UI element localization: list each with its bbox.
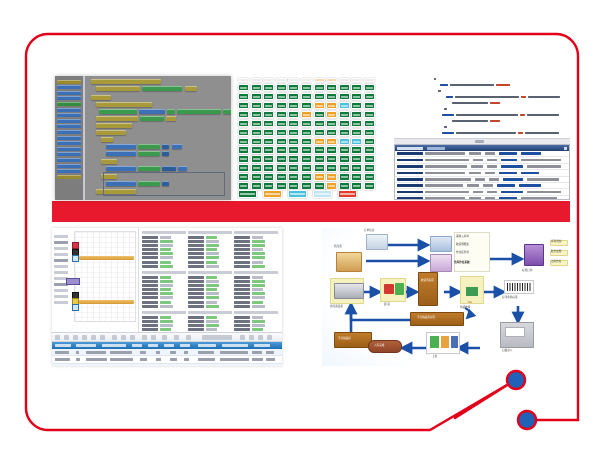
status-cell[interactable] [351,173,362,180]
palette-block[interactable] [57,108,81,112]
panel-code-console[interactable]: Source code editor and log console [394,76,570,200]
status-cell[interactable] [276,129,287,136]
status-cell[interactable] [263,155,274,162]
gantt-bar[interactable] [79,256,134,260]
status-cell[interactable] [339,155,350,162]
parameter-value-cell [160,328,171,331]
table-row[interactable] [52,349,282,356]
status-cell[interactable] [251,155,262,162]
flow-node-supplier-desk[interactable] [336,252,362,272]
parameter-table-row [142,324,186,327]
status-cell[interactable] [314,102,325,109]
parameter-label-cell [142,316,158,319]
log-text-segment [501,191,523,194]
flow-node-system-console-b[interactable] [430,254,452,272]
palette-block[interactable] [57,147,81,151]
status-cell[interactable] [301,164,312,171]
status-cell[interactable] [238,111,249,118]
status-cell[interactable] [364,120,375,127]
status-cell[interactable] [364,182,375,189]
status-cell[interactable] [339,129,350,136]
code-block[interactable] [223,109,231,114]
status-cell[interactable] [238,84,249,91]
status-cell[interactable] [263,164,274,171]
code-block[interactable] [177,109,221,114]
code-block[interactable] [178,166,187,171]
block-canvas[interactable] [87,76,231,200]
status-cell[interactable] [288,146,299,153]
parameter-value-cell [252,276,263,279]
parameter-label-cell [188,305,204,308]
status-cell[interactable] [301,84,312,91]
code-block[interactable] [167,109,175,114]
status-cell[interactable] [263,93,274,100]
table-cell [170,358,177,361]
gantt-chart[interactable] [52,228,139,332]
table-cell [184,358,189,361]
parameter-table[interactable] [142,271,186,309]
parameter-value-cell [252,265,265,268]
status-grid-row [238,102,389,109]
status-cell[interactable] [276,146,287,153]
status-cell[interactable] [364,164,375,171]
palette-block[interactable] [57,80,81,84]
panel-planning-sheet[interactable]: Production planning sheet [52,228,282,366]
status-cell[interactable] [251,93,262,100]
flow-label-system-console: 仓库作业系统 [454,262,470,265]
status-cell[interactable] [251,120,262,127]
code-block[interactable] [139,109,165,114]
parameter-value-cell [160,265,173,268]
decorative-frame [0,0,600,450]
status-cell[interactable] [301,102,312,109]
status-cell[interactable] [238,146,249,153]
gantt-milestone-marker[interactable] [72,255,79,262]
status-cell[interactable] [251,111,262,118]
status-cell[interactable] [314,155,325,162]
code-block[interactable] [96,86,140,91]
status-cell[interactable] [314,138,325,145]
parameter-value-cell [206,320,219,323]
table-row[interactable] [52,364,282,366]
parameter-label-cell [188,252,204,255]
code-block[interactable] [96,123,132,128]
parameter-table-row [142,305,186,308]
status-cell[interactable] [301,155,312,162]
parameter-label-cell [142,324,158,327]
flow-label-printer: 标签打印 [522,270,532,273]
parameter-table-row [234,296,278,299]
palette-block[interactable] [57,113,81,117]
status-cell[interactable] [251,164,262,171]
status-cell[interactable] [288,173,299,180]
status-cell[interactable] [314,164,325,171]
status-cell[interactable] [288,129,299,136]
code-block[interactable] [99,109,137,114]
status-cell[interactable] [301,146,312,153]
parameter-value-cell [206,265,219,268]
flow-node-scan-hand[interactable] [500,322,534,348]
status-cell[interactable] [314,173,325,180]
parameter-table[interactable] [142,231,186,269]
gantt-milestone-marker[interactable] [66,278,80,285]
status-cell[interactable] [326,84,337,91]
code-block[interactable] [166,116,176,121]
status-cell[interactable] [301,93,312,100]
parameter-table-row [142,320,186,323]
table-row[interactable] [52,356,282,363]
status-cell[interactable] [351,93,362,100]
palette-block[interactable] [57,152,81,156]
parameter-table-header [188,311,232,314]
log-text-segment [425,152,465,155]
status-cell[interactable] [301,129,312,136]
flow-node-scanner-top[interactable] [366,234,388,250]
code-block[interactable] [101,137,113,142]
parameter-value-cell [206,324,219,327]
status-cell[interactable] [326,93,337,100]
palette-block[interactable] [57,136,81,140]
status-cell[interactable] [301,120,312,127]
parameter-table-row [142,236,186,239]
parameter-tables[interactable] [140,228,282,332]
flow-node-shelving[interactable] [426,332,460,354]
log-text-segment [487,165,497,168]
status-cell[interactable] [263,120,274,127]
status-cell[interactable] [288,164,299,171]
panel-status-grid[interactable]: Device status matrix [236,76,391,200]
status-cell[interactable] [351,111,362,118]
palette-block[interactable] [57,130,81,134]
parameter-table-row [188,252,232,255]
code-block[interactable] [91,95,111,100]
status-cell[interactable] [339,173,350,180]
parameter-table-row [142,252,186,255]
code-block[interactable] [96,116,138,121]
status-cell[interactable] [351,164,362,171]
parameter-table-row [188,316,232,319]
code-editor[interactable] [394,76,570,138]
palette-block[interactable] [57,85,81,89]
status-cell[interactable] [351,84,362,91]
parameter-table[interactable] [234,231,278,269]
log-row[interactable] [395,196,569,199]
code-block[interactable] [91,79,161,84]
status-cell[interactable] [301,173,312,180]
parameter-table-header [142,231,186,234]
gantt-bar[interactable] [79,300,134,304]
status-cell[interactable] [238,93,249,100]
parameter-label-cell [142,292,158,295]
status-cell[interactable] [251,138,262,145]
code-block[interactable] [172,144,182,149]
flow-label-inspect: 到货检验 [460,307,470,310]
panel-status-grid-title: Device status matrix [236,76,237,77]
parameter-table-row [188,305,232,308]
code-block[interactable] [162,166,176,171]
status-cell[interactable] [263,84,274,91]
parameter-value-cell [206,284,219,287]
status-cell[interactable] [364,93,375,100]
code-block[interactable] [96,130,126,135]
status-cell[interactable] [251,129,262,136]
parameter-table-header [234,231,278,234]
code-block[interactable] [106,166,136,171]
status-cell[interactable] [364,173,375,180]
code-block[interactable] [96,102,152,107]
parameter-label-cell [142,252,158,255]
palette-block[interactable] [57,102,81,106]
parameter-label-cell [188,244,204,247]
status-cell[interactable] [351,146,362,153]
parameter-table[interactable] [188,271,232,309]
parameter-label-cell [188,296,204,299]
palette-block[interactable] [57,141,81,145]
parameter-table-row [142,284,186,287]
status-cell[interactable] [251,173,262,180]
parameter-label-cell [142,248,158,251]
palette-block[interactable] [57,124,81,128]
code-block[interactable] [162,151,169,156]
status-cell[interactable] [364,129,375,136]
table-cell [170,351,176,354]
status-cell[interactable] [238,129,249,136]
status-grid-header-cell [351,78,362,82]
status-cell[interactable] [263,146,274,153]
panel-logistics-flow[interactable]: Warehouse inbound logistics flow diagram [322,228,570,366]
parameter-label-cell [142,328,158,331]
flow-node-printer[interactable] [524,244,544,266]
data-grid-body[interactable] [52,349,282,366]
gantt-milestone-marker[interactable] [72,242,79,249]
status-cell[interactable] [314,129,325,136]
log-text-segment [425,191,469,194]
status-cell[interactable] [238,173,249,180]
gantt-timeline-grid[interactable] [74,231,136,322]
code-block[interactable] [138,166,160,171]
status-cell[interactable] [276,84,287,91]
code-block[interactable] [106,144,136,149]
status-cell[interactable] [288,84,299,91]
parameter-table-row [142,248,186,251]
status-cell[interactable] [351,155,362,162]
parameter-value-cell [160,316,171,319]
parameter-table-row [142,280,186,283]
data-grid[interactable] [52,332,282,366]
status-cell[interactable] [263,102,274,109]
flow-node-system-console-a[interactable] [430,236,452,252]
parameter-value-cell [206,256,219,259]
parameter-table-header [142,271,186,274]
table-cell [220,351,248,354]
palette-block[interactable] [57,96,81,100]
status-cell[interactable] [326,111,337,118]
slide-canvas: Visual block programming editor [0,0,600,450]
status-grid-row [238,138,389,145]
status-cell[interactable] [288,93,299,100]
scrollbar-thumb[interactable] [475,140,484,143]
status-cell[interactable] [364,111,375,118]
status-cell[interactable] [364,146,375,153]
status-grid-row [238,146,389,153]
data-grid-header[interactable] [52,342,282,349]
code-block[interactable] [142,86,182,91]
status-cell[interactable] [251,146,262,153]
status-cell[interactable] [238,155,249,162]
status-cell[interactable] [276,155,287,162]
status-cell[interactable] [339,84,350,91]
status-cell[interactable] [326,138,337,145]
log-row-list[interactable] [395,151,569,199]
status-cell[interactable] [326,155,337,162]
status-cell[interactable] [351,129,362,136]
status-cell[interactable] [326,146,337,153]
status-cell[interactable] [238,138,249,145]
status-cell[interactable] [314,146,325,153]
code-block[interactable] [101,159,117,164]
parameter-value-cell [206,316,217,319]
status-cell[interactable] [351,120,362,127]
status-cell[interactable] [288,138,299,145]
status-cell[interactable] [238,102,249,109]
status-cell[interactable] [276,173,287,180]
status-cell[interactable] [351,102,362,109]
palette-block[interactable] [57,91,81,95]
status-cell[interactable] [251,102,262,109]
status-cell[interactable] [263,129,274,136]
log-text-segment [397,178,423,181]
flow-label-barcode: 打印条码标签 [502,297,518,300]
status-cell[interactable] [314,84,325,91]
parameter-label-cell [142,320,158,323]
parameter-value-cell [160,301,171,304]
parameter-value-cell [206,252,219,255]
status-cell[interactable] [339,93,350,100]
status-cell[interactable] [364,84,375,91]
block-palette[interactable] [55,76,85,200]
table-cell [156,358,161,361]
parameter-table-row [188,236,232,239]
status-cell[interactable] [276,164,287,171]
parameter-value-cell [206,244,219,247]
status-cell[interactable] [238,120,249,127]
palette-block[interactable] [57,158,81,162]
code-block[interactable] [162,144,169,149]
status-cell[interactable] [326,173,337,180]
status-cell[interactable] [326,102,337,109]
code-block[interactable] [138,144,160,149]
parameter-label-cell [188,265,204,268]
status-cell[interactable] [301,111,312,118]
parameter-table[interactable] [188,231,232,269]
status-cell[interactable] [339,164,350,171]
parameter-label-cell [142,276,158,279]
status-cell[interactable] [326,120,337,127]
status-cell[interactable] [263,173,274,180]
parameter-value-cell [206,276,217,279]
status-cell[interactable] [339,138,350,145]
palette-block[interactable] [57,119,81,123]
parameter-label-cell [234,328,250,331]
flow-node-carton[interactable] [418,272,438,306]
status-cell[interactable] [288,102,299,109]
code-block[interactable] [185,86,197,91]
parameter-value-cell [252,320,265,323]
palette-block[interactable] [57,164,81,168]
status-cell[interactable] [263,111,274,118]
parameter-table[interactable] [234,271,278,309]
table-cell [252,358,263,361]
flow-node-inspect[interactable] [460,276,484,304]
log-console[interactable] [394,144,570,200]
status-cell[interactable] [314,111,325,118]
parameter-label-cell [234,265,250,268]
parameter-value-cell [160,292,173,295]
status-cell[interactable] [326,129,337,136]
parameter-label-cell [142,280,158,283]
status-cell[interactable] [238,164,249,171]
status-cell[interactable] [364,102,375,109]
panel-blocks-editor[interactable]: Visual block programming editor [55,76,231,200]
parameter-label-cell [234,316,250,319]
status-cell[interactable] [339,111,350,118]
status-cell[interactable] [263,138,274,145]
status-cell[interactable] [276,120,287,127]
close-icon[interactable] [564,147,567,150]
status-cell[interactable] [364,155,375,162]
log-text-segment [425,178,471,181]
status-cell[interactable] [288,111,299,118]
status-cell[interactable] [351,138,362,145]
flow-node-barcode[interactable] [504,280,534,294]
code-block[interactable] [140,116,164,121]
gantt-milestone-marker[interactable] [72,304,79,311]
parameter-value-cell [252,296,265,299]
data-grid-toolbar[interactable] [52,333,282,342]
palette-block[interactable] [57,169,81,173]
code-block[interactable] [106,151,136,156]
status-cell[interactable] [314,120,325,127]
flow-node-truck[interactable] [330,278,364,304]
status-cell[interactable] [364,138,375,145]
status-cell[interactable] [251,84,262,91]
status-cell[interactable] [339,120,350,127]
legend-swatch [238,190,257,199]
status-cell[interactable] [276,102,287,109]
parameter-label-cell [234,301,250,304]
flow-node-forklift[interactable] [380,278,406,302]
status-cell[interactable] [288,120,299,127]
status-cell[interactable] [276,111,287,118]
status-cell[interactable] [314,93,325,100]
status-grid-body[interactable] [238,84,389,190]
status-grid-header-cell [251,78,262,82]
palette-block[interactable] [57,175,81,179]
parameter-label-cell [142,256,158,259]
status-cell[interactable] [339,102,350,109]
table-cell [184,351,188,354]
status-cell[interactable] [326,164,337,171]
status-cell[interactable] [276,93,287,100]
status-cell[interactable] [339,146,350,153]
status-cell[interactable] [288,155,299,162]
parameter-table-row [188,276,232,279]
table-cell [110,358,133,361]
code-block[interactable] [138,151,160,156]
status-cell[interactable] [301,138,312,145]
status-cell[interactable] [276,138,287,145]
status-grid-header-row [238,78,389,82]
